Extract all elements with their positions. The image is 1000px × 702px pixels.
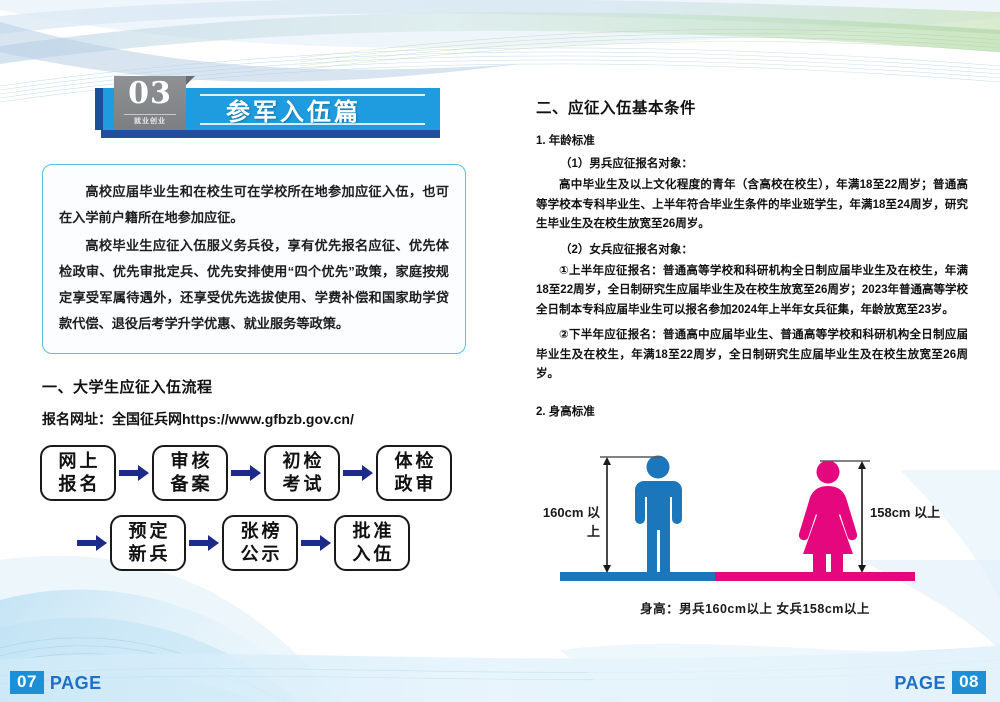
flowchart-row-1: 网上 报名 审核 备案 初检 考试 xyxy=(40,445,480,501)
female-first-half-paragraph: ①上半年应征报名：普通高等学校和科研机构全日制应届毕业生及在校生，年满18至22… xyxy=(536,262,968,321)
arrow-right-icon xyxy=(116,445,152,501)
female-height-label: 158cm 以上 xyxy=(870,502,970,521)
flow-step-line1: 网上 xyxy=(56,450,101,473)
right-page-column: 二、应征入伍基本条件 1. 年龄标准 （1）男兵应征报名对象： 高中毕业生及以上… xyxy=(536,96,968,419)
flow-step-line2: 报名 xyxy=(56,473,101,496)
section-number-badge: 03 就业创业 xyxy=(114,76,186,130)
flow-step-line1: 初检 xyxy=(280,450,325,473)
section-title-banner: 参军入伍篇 03 就业创业 xyxy=(95,88,440,134)
intro-paragraph-1: 高校应届毕业生和在校生可在学校所在地参加应征入伍，也可在入学前户籍所在地参加应征… xyxy=(59,179,449,231)
left-page-word: PAGE xyxy=(44,673,108,693)
badge-fold-corner xyxy=(186,76,195,85)
arrow-right-icon xyxy=(186,515,222,571)
flow-step-online-registration[interactable]: 网上 报名 xyxy=(40,445,116,501)
arrow-right-icon xyxy=(74,515,110,571)
male-figure-icon xyxy=(635,456,682,577)
flow-step-line1: 批准 xyxy=(350,520,395,543)
registration-url-line[interactable]: 报名网址：全国征兵网https://www.gfbzb.gov.cn/ xyxy=(42,409,466,429)
badge-number: 03 xyxy=(114,77,186,111)
male-ground-bar xyxy=(560,572,715,581)
basic-conditions-heading: 二、应征入伍基本条件 xyxy=(536,96,968,118)
flow-step-line1: 张榜 xyxy=(238,520,283,543)
female-second-half-paragraph: ②下半年应征报名：普通高中应届毕业生、普通高等学校和科研机构全日制应届毕业生及在… xyxy=(536,326,968,385)
arrow-right-icon xyxy=(228,445,264,501)
flowchart-row-2: 预定 新兵 张榜 公示 批准 入伍 xyxy=(74,515,480,571)
flow-step-line1: 体检 xyxy=(392,450,437,473)
arrow-right-icon xyxy=(340,445,376,501)
flow-step-line2: 新兵 xyxy=(126,543,171,566)
footer-page-right: PAGE 08 xyxy=(888,671,986,694)
female-figure-icon xyxy=(799,461,857,573)
intro-info-box: 高校应届毕业生和在校生可在学校所在地参加应征入伍，也可在入学前户籍所在地参加应征… xyxy=(42,164,466,354)
enlistment-flowchart: 网上 报名 审核 备案 初检 考试 xyxy=(40,445,480,571)
height-standard-diagram: 160cm 以上 158cm 以上 身高：男兵160cm以上 女兵158cm以上 xyxy=(540,440,970,620)
flow-step-approved-enlistment[interactable]: 批准 入伍 xyxy=(334,515,410,571)
footer-page-left: 07 PAGE xyxy=(10,671,108,694)
male-height-label: 160cm 以上 xyxy=(540,502,600,540)
female-applicant-item: （2）女兵应征报名对象： xyxy=(536,241,968,257)
age-standard-subheading: 1. 年龄标准 xyxy=(536,132,968,148)
male-applicant-paragraph: 高中毕业生及以上文化程度的青年（含高校在校生），年满18至22周岁；普通高等学校… xyxy=(536,176,968,235)
right-page-number: 08 xyxy=(952,671,986,694)
flow-step-reserved-recruits[interactable]: 预定 新兵 xyxy=(110,515,186,571)
flow-step-line1: 预定 xyxy=(126,520,171,543)
flow-step-public-announcement[interactable]: 张榜 公示 xyxy=(222,515,298,571)
flow-step-review-filing[interactable]: 审核 备案 xyxy=(152,445,228,501)
flow-step-line2: 公示 xyxy=(238,543,283,566)
right-page-word: PAGE xyxy=(888,673,952,693)
flow-step-line2: 入伍 xyxy=(350,543,395,566)
left-page-column: 参军入伍篇 03 就业创业 高校应届毕业生和在校生可在学校所在地参加应征入伍，也… xyxy=(36,76,466,585)
height-standard-subheading: 2. 身高标准 xyxy=(536,403,968,419)
flow-step-preliminary-exam[interactable]: 初检 考试 xyxy=(264,445,340,501)
intro-paragraph-2: 高校毕业生应征入伍服义务兵役，享有优先报名应征、优先体检政审、优先审批定兵、优先… xyxy=(59,233,449,337)
flow-step-line1: 审核 xyxy=(168,450,213,473)
height-diagram-caption: 身高：男兵160cm以上 女兵158cm以上 xyxy=(540,598,970,617)
male-applicant-item: （1）男兵应征报名对象： xyxy=(536,155,968,171)
flow-step-line2: 备案 xyxy=(168,473,213,496)
arrow-right-icon xyxy=(298,515,334,571)
left-page-number: 07 xyxy=(10,671,44,694)
badge-subtitle: 就业创业 xyxy=(114,116,186,126)
flow-step-line2: 考试 xyxy=(280,473,325,496)
female-ground-bar xyxy=(715,572,915,581)
enlistment-process-heading: 一、大学生应征入伍流程 xyxy=(42,376,466,397)
brochure-spread: 参军入伍篇 03 就业创业 高校应届毕业生和在校生可在学校所在地参加应征入伍，也… xyxy=(0,0,1000,702)
flow-step-line2: 政审 xyxy=(392,473,437,496)
flow-step-physical-political-review[interactable]: 体检 政审 xyxy=(376,445,452,501)
badge-divider xyxy=(124,114,176,115)
